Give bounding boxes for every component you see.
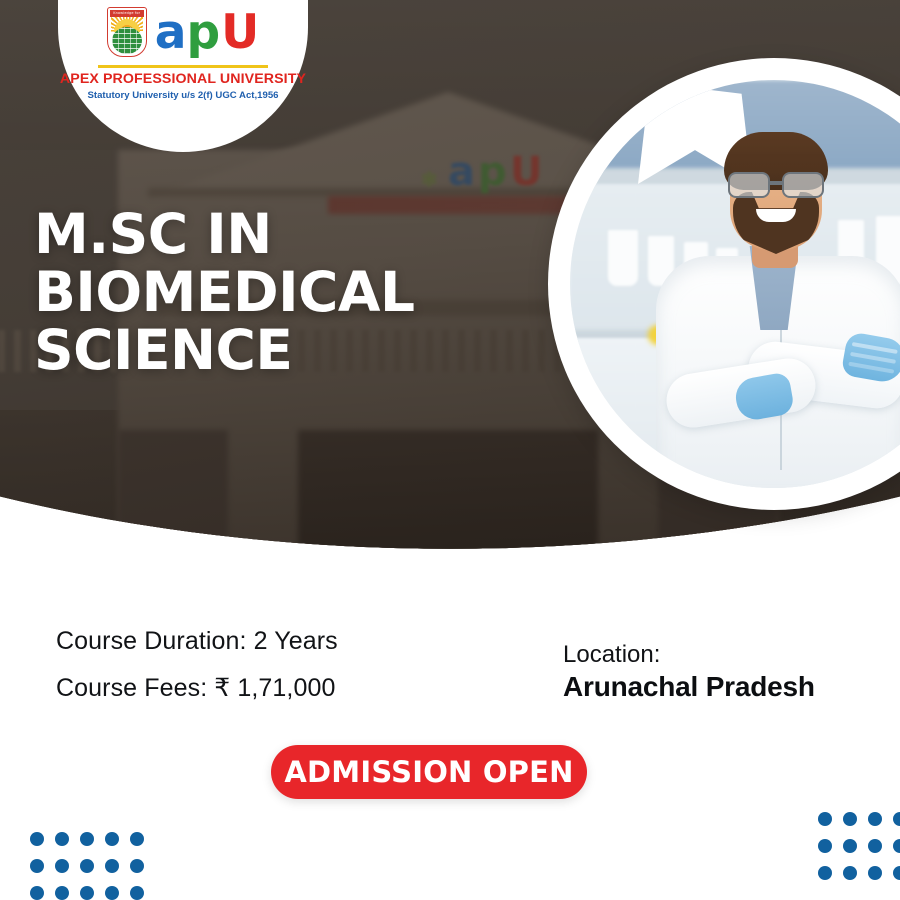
headline-line-1: M.SC IN bbox=[34, 205, 554, 263]
decorative-dot bbox=[893, 812, 900, 826]
decorative-dot bbox=[80, 832, 94, 846]
promo-poster: ❄ apU Knowledge for Life bbox=[0, 0, 900, 900]
decorative-dot bbox=[868, 812, 882, 826]
page-title: M.SC IN BIOMEDICAL SCIENCE bbox=[34, 205, 554, 379]
portrait-ring bbox=[548, 58, 900, 510]
decorative-dot bbox=[818, 866, 832, 880]
wordmark-letter-u: U bbox=[220, 9, 259, 56]
wordmark-letter-p: p bbox=[186, 9, 219, 56]
location-block: Location: Arunachal Pradesh bbox=[563, 640, 815, 705]
decorative-dot bbox=[105, 886, 119, 900]
decorative-dot bbox=[868, 866, 882, 880]
logo-divider-rule bbox=[98, 65, 268, 68]
university-crest-icon: Knowledge for Life bbox=[107, 7, 147, 57]
headline-line-3: SCIENCE bbox=[34, 321, 554, 379]
scientist-portrait-image bbox=[570, 80, 900, 488]
lab-coat-lapel-left bbox=[638, 88, 696, 184]
decorative-dot bbox=[55, 832, 69, 846]
decorative-dot bbox=[30, 886, 44, 900]
wordmark-letter-a: a bbox=[155, 9, 186, 56]
safety-goggles-icon bbox=[725, 172, 827, 198]
decorative-dot bbox=[843, 866, 857, 880]
decorative-dot bbox=[80, 859, 94, 873]
university-name: APEX PROFESSIONAL UNIVERSITY bbox=[58, 71, 308, 87]
admission-open-button[interactable]: ADMISSION OPEN bbox=[271, 745, 587, 799]
decorative-dot-grid-right bbox=[818, 812, 900, 893]
decorative-dot bbox=[130, 859, 144, 873]
crest-globe-icon bbox=[112, 27, 142, 54]
goggle-lens-left bbox=[728, 172, 770, 198]
apu-wordmark: a p U bbox=[155, 9, 260, 56]
decorative-dot bbox=[105, 832, 119, 846]
decorative-dot bbox=[130, 886, 144, 900]
decorative-dot-grid-left bbox=[30, 832, 155, 900]
decorative-dot bbox=[868, 839, 882, 853]
decorative-dot bbox=[130, 832, 144, 846]
course-details: Course Duration: 2 Years Course Fees: ₹ … bbox=[56, 618, 338, 712]
goggle-lens-right bbox=[782, 172, 824, 198]
goggle-bridge bbox=[770, 181, 782, 185]
scientist-figure bbox=[570, 80, 900, 488]
location-value: Arunachal Pradesh bbox=[563, 669, 815, 705]
decorative-dot bbox=[80, 886, 94, 900]
location-label: Location: bbox=[563, 640, 815, 669]
decorative-dot bbox=[843, 839, 857, 853]
decorative-dot bbox=[30, 859, 44, 873]
logo-mark-row: Knowledge for Life a p U bbox=[58, 4, 308, 60]
decorative-dot bbox=[843, 812, 857, 826]
crest-motto-banner: Knowledge for Life bbox=[110, 10, 144, 17]
decorative-dot bbox=[893, 866, 900, 880]
decorative-dot bbox=[818, 839, 832, 853]
decorative-dot bbox=[30, 832, 44, 846]
course-fees: Course Fees: ₹ 1,71,000 bbox=[56, 665, 338, 712]
course-duration: Course Duration: 2 Years bbox=[56, 618, 338, 665]
decorative-dot bbox=[55, 886, 69, 900]
decorative-dot bbox=[893, 839, 900, 853]
decorative-dot bbox=[55, 859, 69, 873]
decorative-dot bbox=[818, 812, 832, 826]
logo-lockup: Knowledge for Life a p U APEX PROFESSION… bbox=[58, 4, 308, 101]
decorative-dot bbox=[105, 859, 119, 873]
headline-line-2: BIOMEDICAL bbox=[34, 263, 554, 321]
university-statutory-tagline: Statutory University u/s 2(f) UGC Act,19… bbox=[58, 90, 308, 101]
